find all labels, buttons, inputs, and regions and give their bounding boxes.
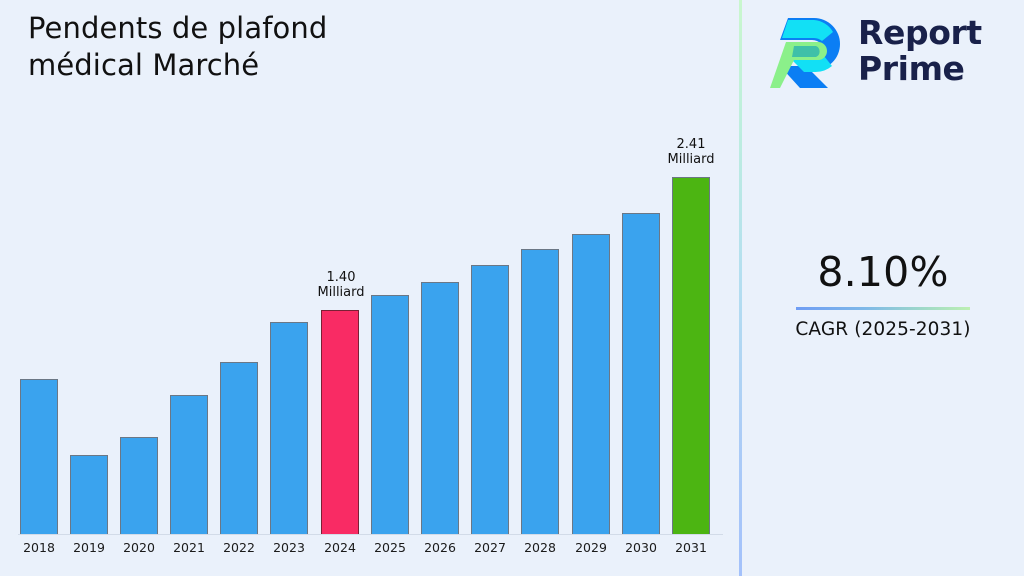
cagr-divider-rule: [796, 307, 970, 310]
report-prime-logo: Report Prime: [770, 12, 1002, 90]
bar-2022: [220, 362, 258, 534]
chart-infographic: Pendents de plafond médical Marché 20182…: [0, 0, 1024, 576]
bar-2018: [20, 379, 58, 534]
cagr-value: 8.10%: [742, 252, 1024, 293]
cagr-block: 8.10% CAGR (2025-2031): [742, 252, 1024, 340]
bar-2021: [170, 395, 208, 534]
bar-chart-plot: 2018201920202021202220232024202520262027…: [0, 0, 740, 576]
x-tick-2031: 2031: [661, 540, 721, 555]
brand-panel: Report Prime 8.10% CAGR (2025-2031): [742, 0, 1024, 576]
bar-2025: [371, 295, 409, 534]
bar-2031: [672, 177, 710, 534]
report-prime-logomark-icon: [770, 14, 848, 88]
bar-2024: [321, 310, 359, 534]
bar-2019: [70, 455, 108, 534]
bar-2030: [622, 213, 660, 534]
chart-panel: Pendents de plafond médical Marché 20182…: [0, 0, 740, 576]
bar-2029: [572, 234, 610, 534]
x-axis-line: [18, 534, 723, 535]
bar-2027: [471, 265, 509, 534]
bar-annotation-base: 1.40 Milliard: [296, 271, 386, 300]
bar-2023: [270, 322, 308, 534]
bar-2020: [120, 437, 158, 534]
cagr-label: CAGR (2025-2031): [742, 319, 1024, 340]
bar-annotation-forecast: 2.41 Milliard: [646, 138, 736, 167]
brand-name: Report Prime: [858, 15, 982, 86]
bar-2026: [421, 282, 459, 534]
bar-2028: [521, 249, 559, 534]
